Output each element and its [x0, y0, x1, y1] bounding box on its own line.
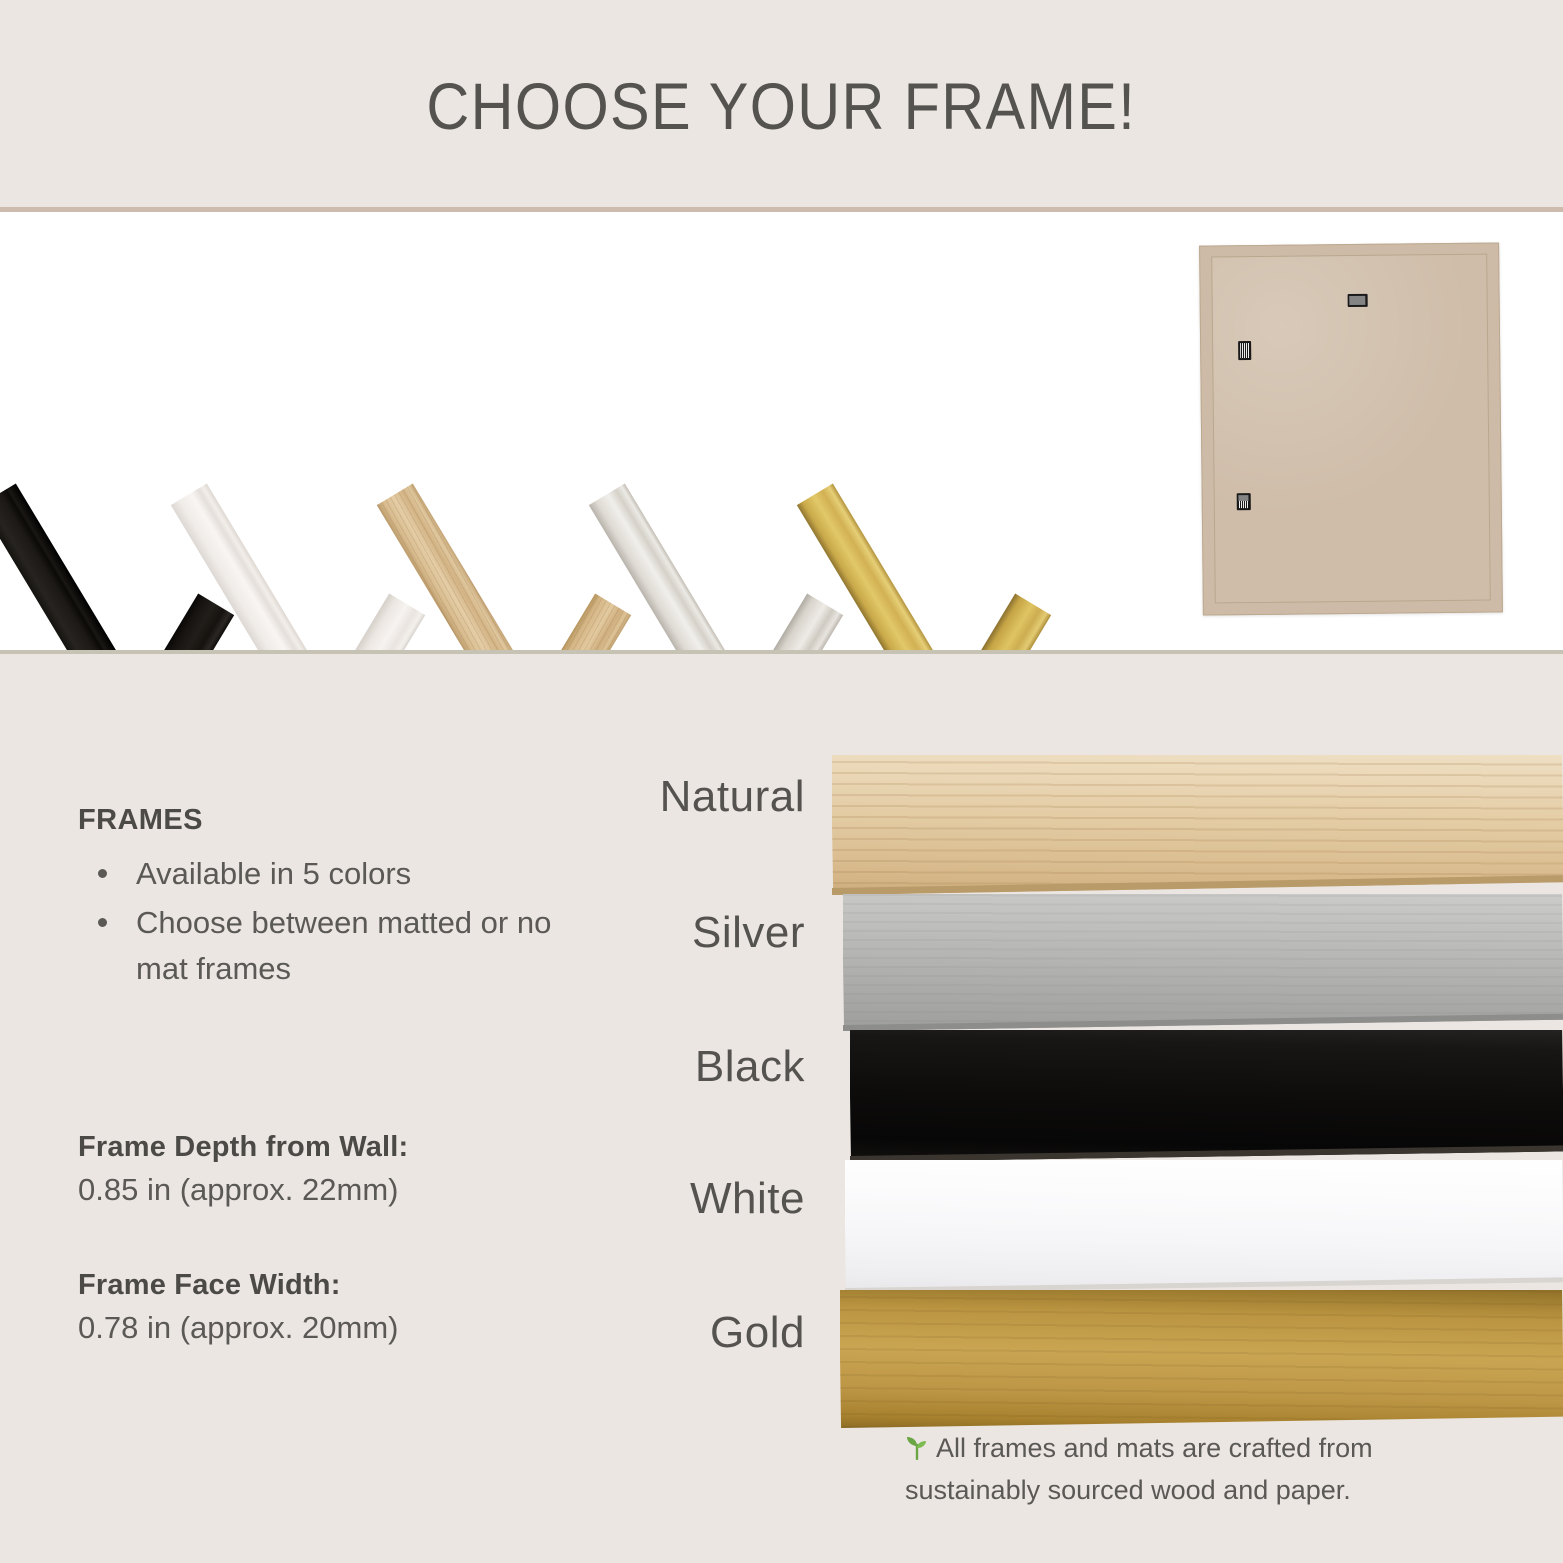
sprout-icon: [905, 1432, 929, 1471]
frame-back-view[interactable]: [1199, 242, 1503, 615]
list-item: Available in 5 colors: [78, 851, 598, 896]
sustainability-text: All frames and mats are crafted from sus…: [905, 1433, 1373, 1505]
page-title: CHOOSE YOUR FRAME!: [427, 68, 1137, 144]
header-banner: CHOOSE YOUR FRAME!: [0, 0, 1563, 211]
sawtooth-hanger-icon: [1237, 493, 1251, 510]
natural-moulding-bar[interactable]: [832, 755, 1563, 895]
gold-frame-corner[interactable]: [903, 464, 1103, 653]
list-item: Choose between matted or no mat frames: [78, 900, 598, 991]
frame-depth-block: Frame Depth from Wall: 0.85 in (approx. …: [78, 1131, 598, 1208]
gold-bar-surface: [840, 1290, 1563, 1428]
silver-bar-surface: [843, 894, 1563, 1031]
frames-heading: FRAMES: [78, 804, 598, 837]
sawtooth-hanger-icon: [1238, 341, 1251, 360]
frame-depth-label: Frame Depth from Wall:: [78, 1131, 598, 1164]
sustainability-note: All frames and mats are crafted from sus…: [905, 1429, 1505, 1510]
color-label-silver: Silver: [692, 908, 805, 958]
silver-moulding-bar[interactable]: [843, 894, 1563, 1031]
details-section: Natural Silver Black White Gold FRAMES A…: [0, 654, 1563, 1563]
frames-spec-column: FRAMES Available in 5 colors Choose betw…: [78, 804, 598, 995]
sawtooth-hanger-icon: [1348, 294, 1368, 307]
color-label-white: White: [690, 1174, 805, 1224]
white-bar-surface: [845, 1160, 1563, 1293]
corner-arm-upper: [0, 483, 125, 653]
frame-face-width-block: Frame Face Width: 0.78 in (approx. 20mm): [78, 1269, 598, 1346]
frame-depth-value: 0.85 in (approx. 22mm): [78, 1172, 598, 1208]
frames-bullet-list: Available in 5 colors Choose between mat…: [78, 851, 598, 991]
white-moulding-bar[interactable]: [845, 1160, 1563, 1293]
color-label-black: Black: [695, 1042, 805, 1092]
black-bar-surface: [850, 1030, 1563, 1162]
frame-backing-board: [1211, 254, 1491, 604]
natural-bar-surface: [832, 755, 1563, 895]
frame-face-width-label: Frame Face Width:: [78, 1269, 598, 1302]
frame-face-width-value: 0.78 in (approx. 20mm): [78, 1310, 598, 1346]
color-label-gold: Gold: [710, 1308, 805, 1358]
gold-moulding-bar[interactable]: [840, 1290, 1563, 1428]
color-label-natural: Natural: [660, 772, 805, 822]
black-moulding-bar[interactable]: [850, 1030, 1563, 1162]
